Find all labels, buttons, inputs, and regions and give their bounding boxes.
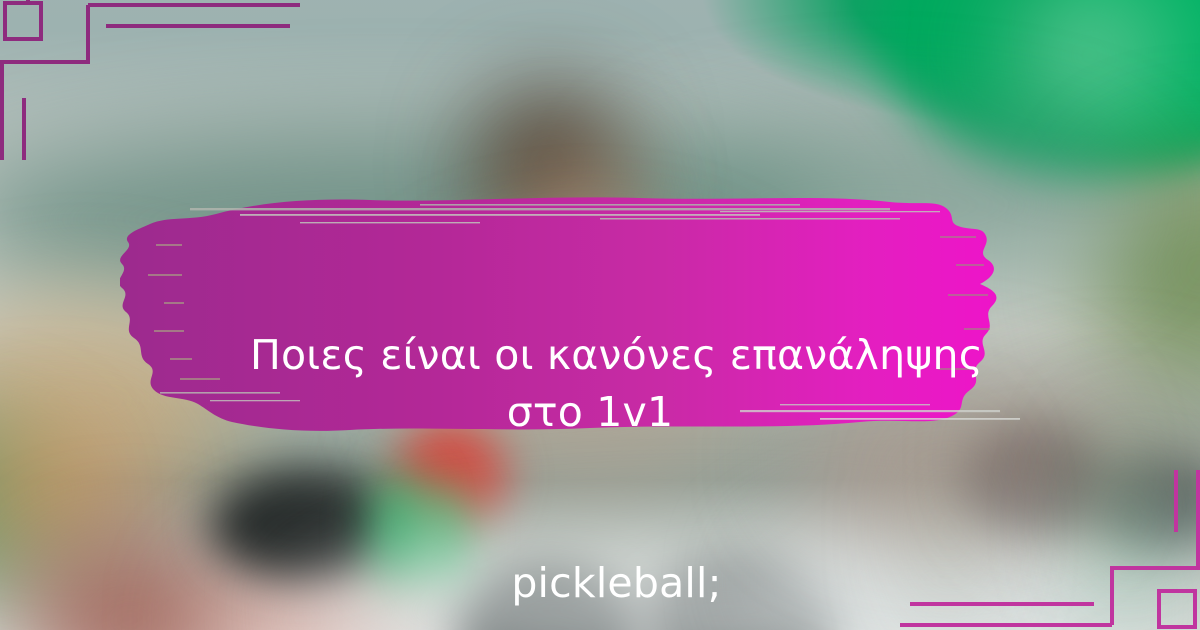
share-card: Ποιες είναι οι κανόνες επανάληψης στο 1v… <box>0 0 1200 630</box>
card-title: Ποιες είναι οι κανόνες επανάληψης στο 1v… <box>160 270 1020 630</box>
corner-ornament-top-left <box>0 0 300 160</box>
card-title-line-1: Ποιες είναι οι κανόνες επανάληψης στο 1v… <box>250 331 996 436</box>
card-title-line-2: pickleball; <box>511 559 721 607</box>
